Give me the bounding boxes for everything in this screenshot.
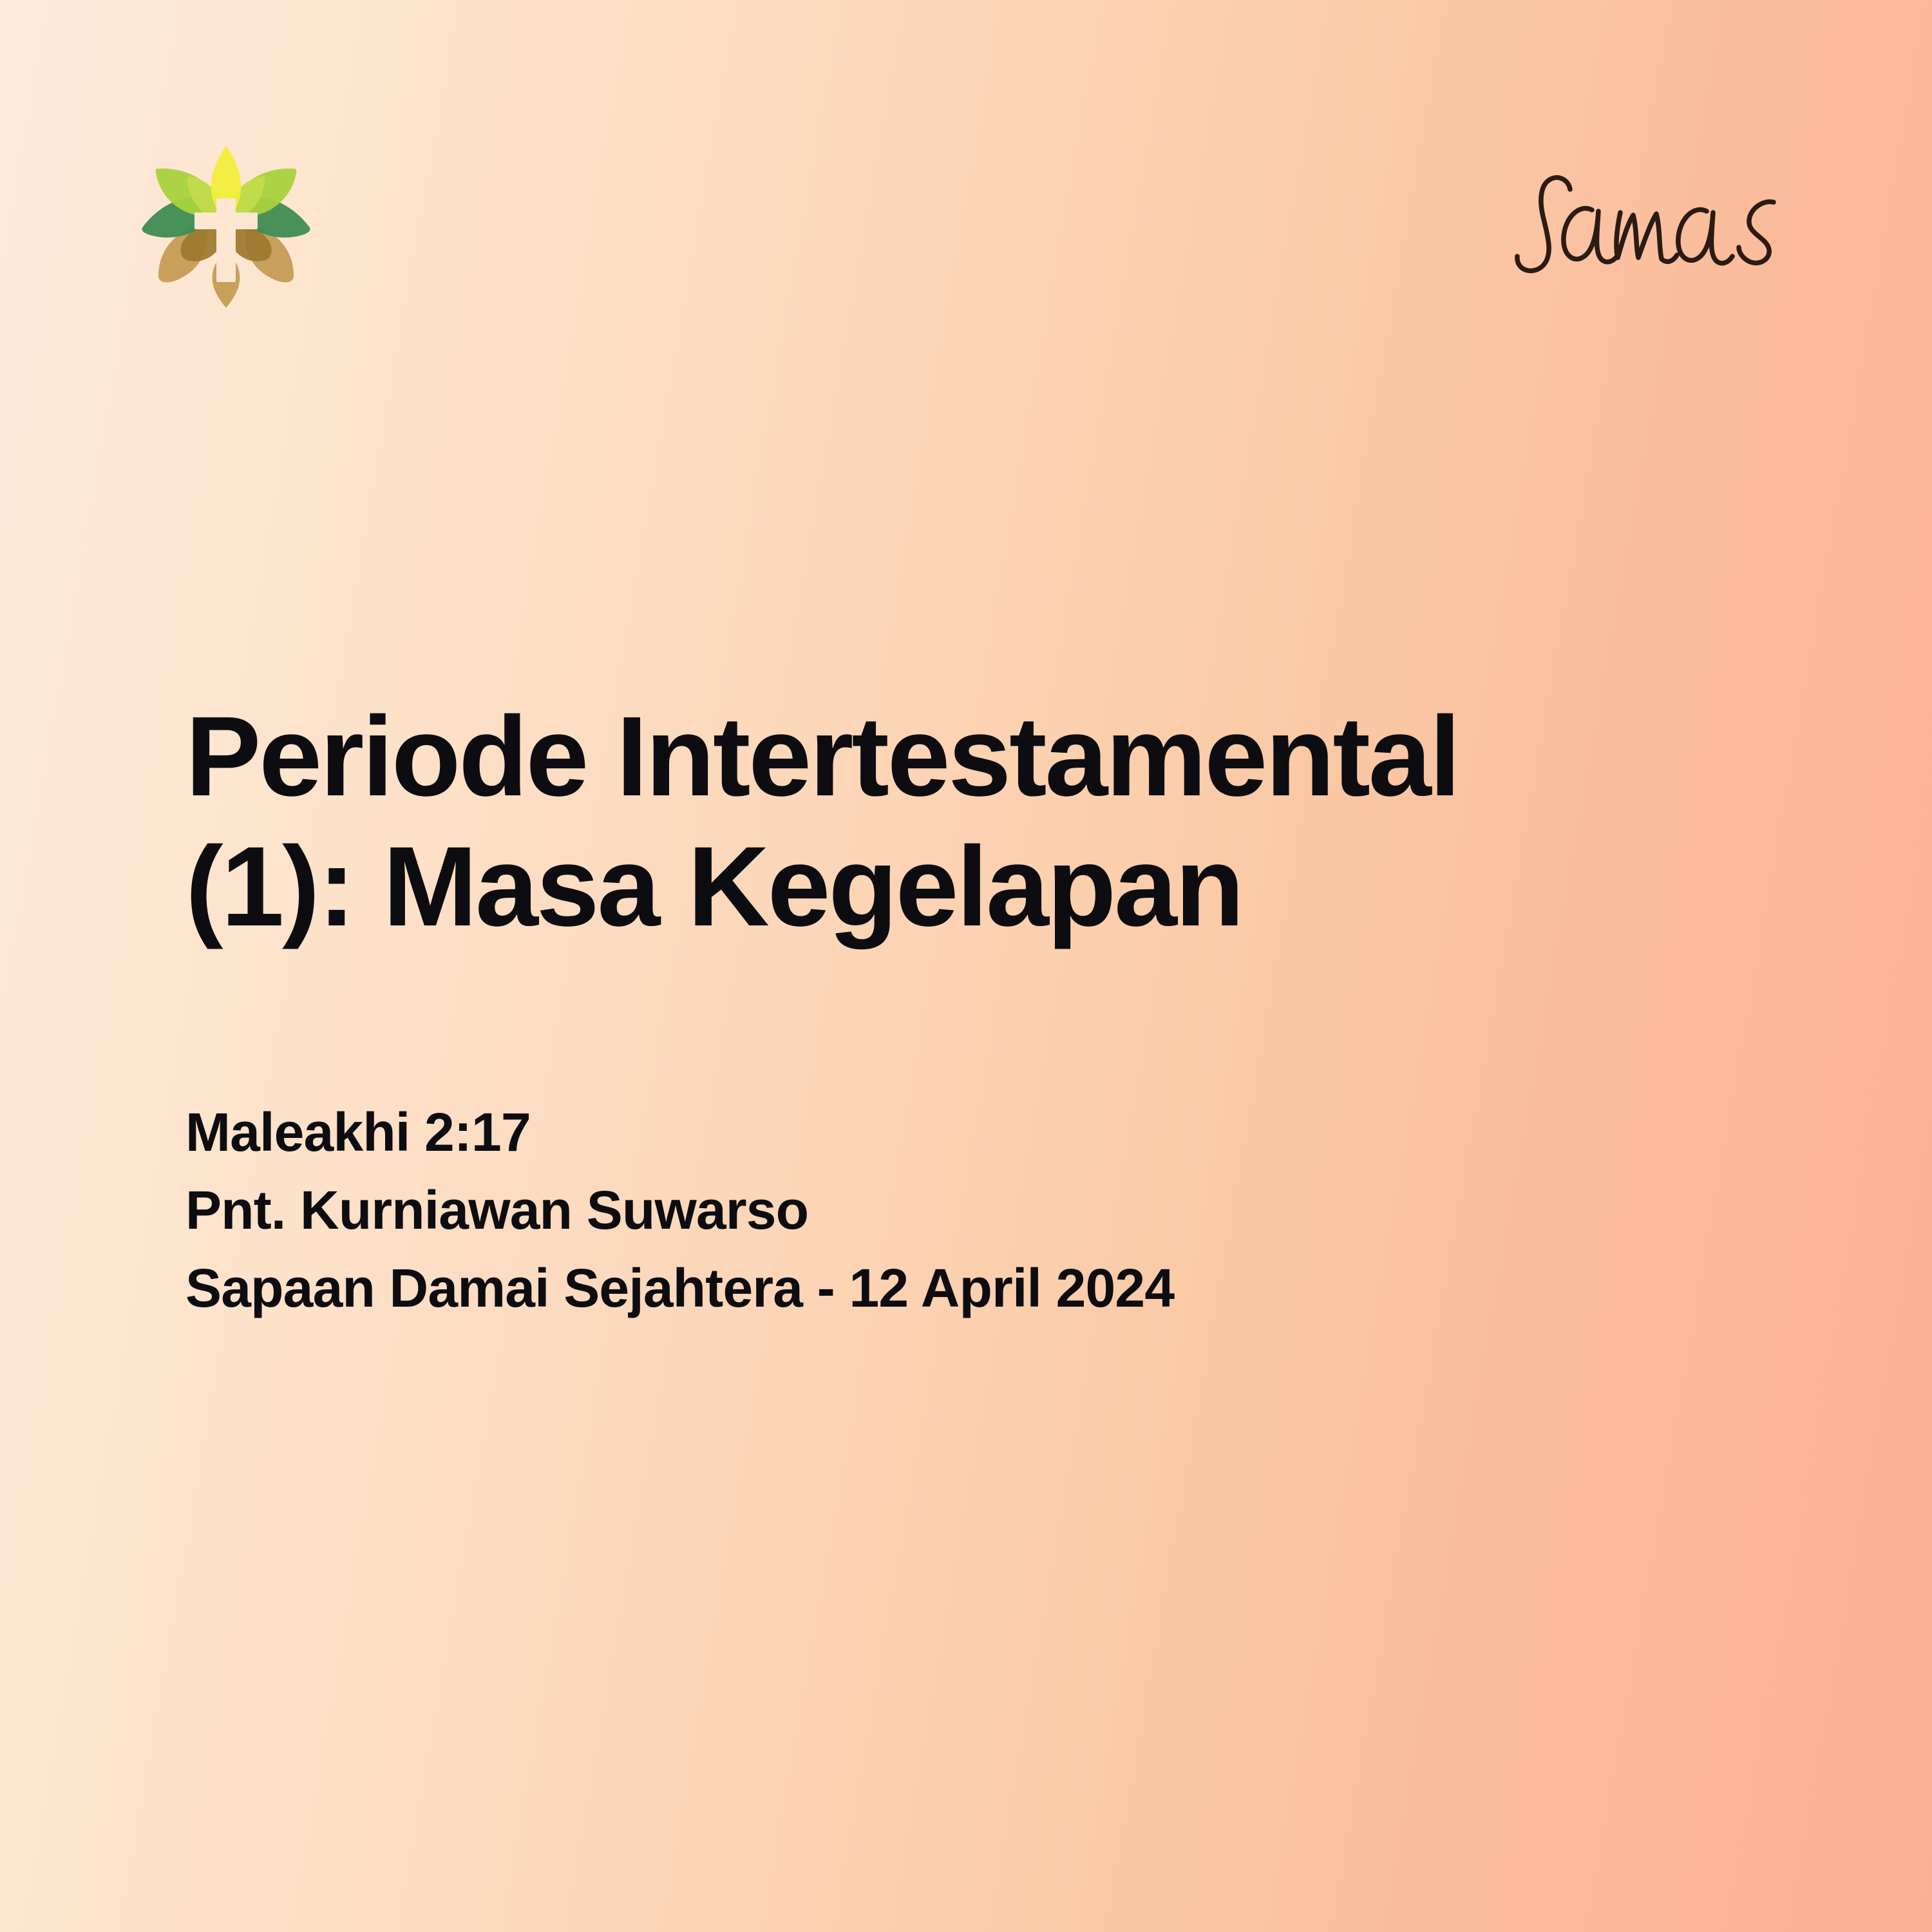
logo-petal-bottom — [213, 250, 240, 308]
scripture-reference: Maleakhi 2:17 — [185, 1094, 1731, 1171]
samas-script-wordmark — [1507, 161, 1803, 290]
presentation-slide: Periode Intertestamental (1): Masa Kegel… — [0, 0, 1932, 1932]
speaker-name: Pnt. Kurniawan Suwarso — [185, 1171, 1731, 1249]
page-title: Periode Intertestamental (1): Masa Kegel… — [185, 692, 1634, 952]
event-and-date: Sapaan Damai Sejahtera - 12 April 2024 — [185, 1249, 1731, 1327]
slide-text-block: Periode Intertestamental (1): Masa Kegel… — [185, 692, 1731, 1327]
slide-meta-block: Maleakhi 2:17 Pnt. Kurniawan Suwarso Sap… — [185, 1094, 1731, 1327]
lotus-cross-logo — [139, 143, 313, 308]
